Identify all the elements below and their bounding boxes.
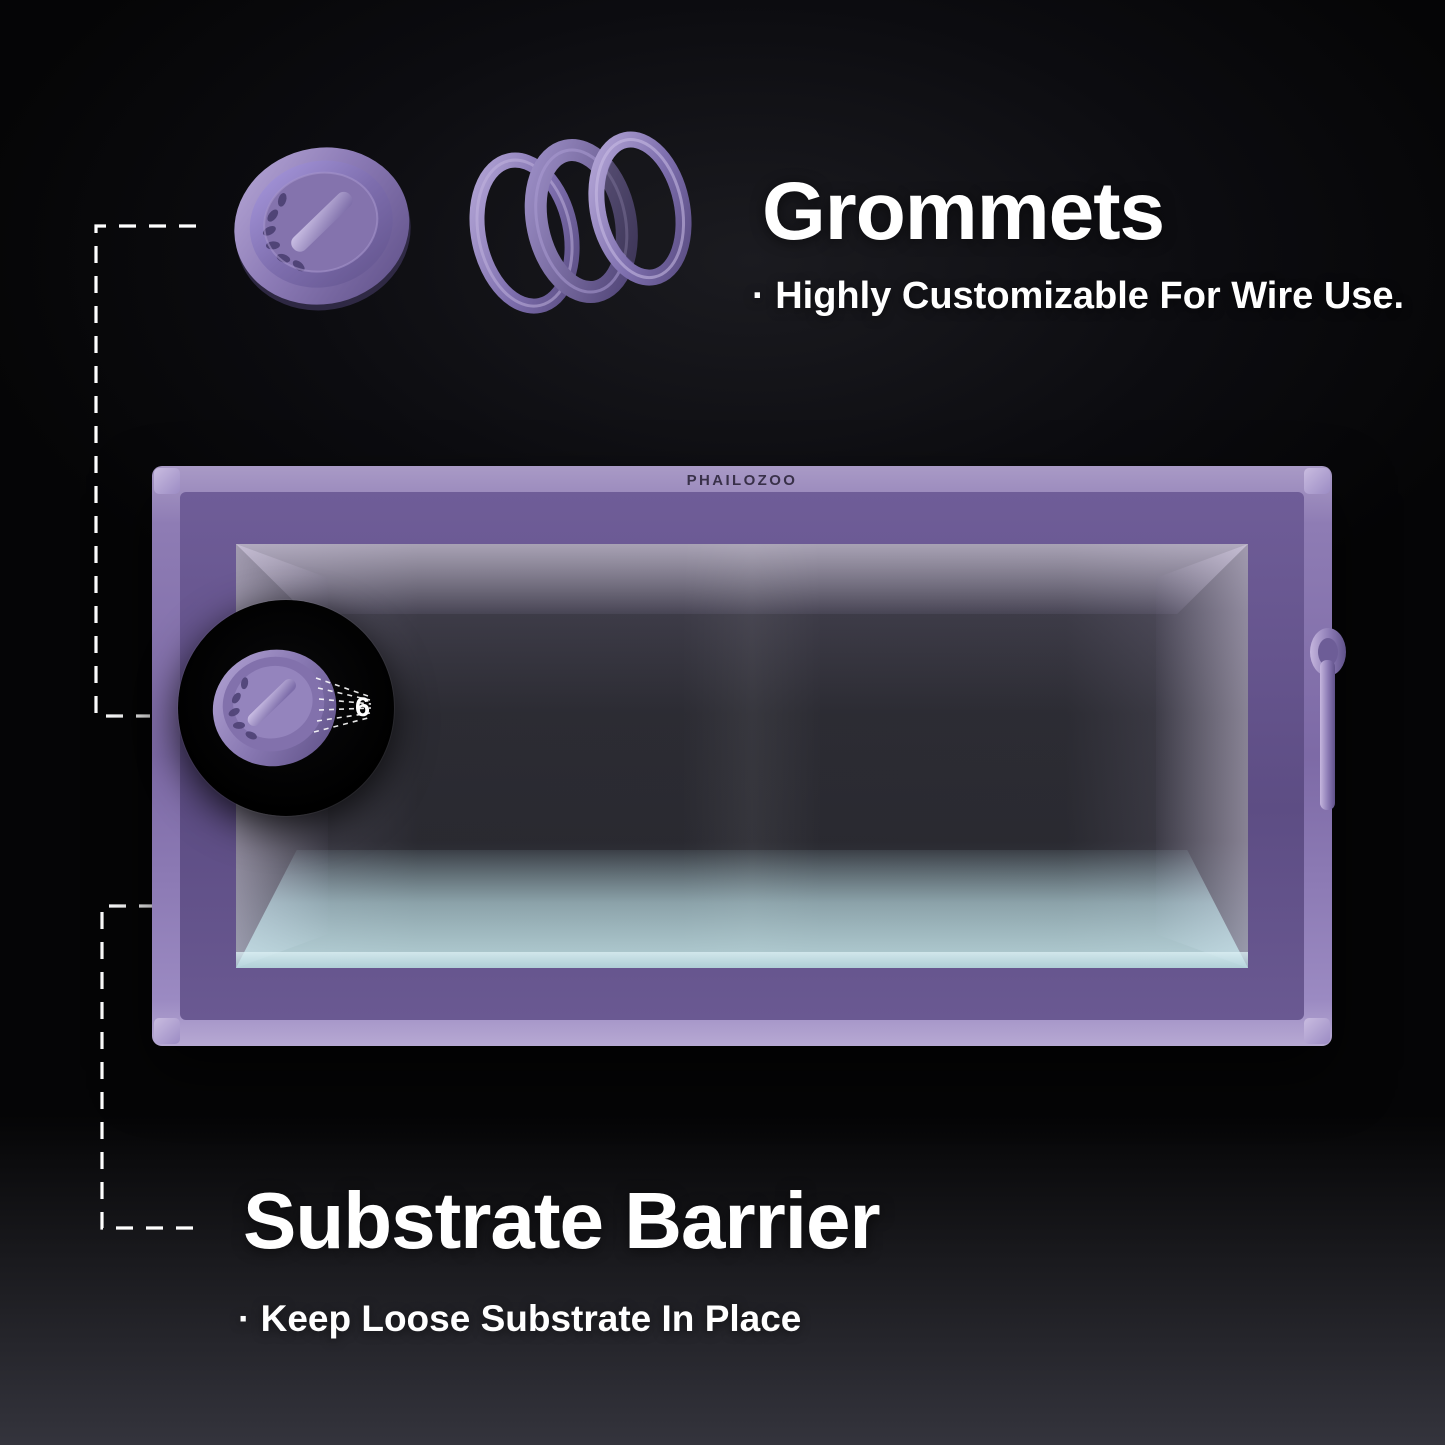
door-handle[interactable] — [1308, 626, 1350, 826]
corner-top-left — [154, 468, 180, 494]
grommet-rings-exploded-icon — [452, 130, 702, 320]
substrate-floor — [236, 850, 1248, 968]
corner-top-right — [1304, 468, 1330, 494]
corner-bottom-right — [1304, 1018, 1330, 1044]
grommet-cap-assembled-icon — [222, 132, 422, 322]
bottom-gradient-overlay — [0, 1115, 1445, 1445]
brand-logo: PHAILOZOO — [152, 472, 1332, 489]
substrate-barrier-bullet: · Keep Loose Substrate In Place — [238, 1296, 801, 1342]
grommets-bullet: · Highly Customizable For Wire Use. — [752, 272, 1404, 320]
infographic-canvas: Grommets · Highly Customizable For Wire … — [0, 0, 1445, 1445]
corner-bottom-left — [154, 1018, 180, 1044]
grommets-title: Grommets — [762, 166, 1164, 258]
substrate-barrier-title: Substrate Barrier — [243, 1176, 880, 1266]
grommet-count-label: 6 — [355, 692, 370, 723]
substrate-front-edge — [236, 952, 1248, 968]
grommet-closeup-callout: 6 — [178, 600, 394, 816]
